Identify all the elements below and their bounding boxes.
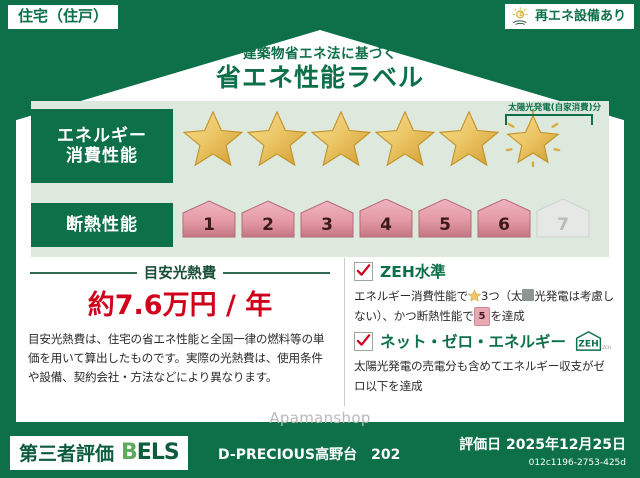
net-zero-energy-body: 太陽光発電の売電分も含めてエネルギー収支がゼロ以下を達成 [354, 357, 616, 396]
evaluation-id: 012c1196-2753-425d [529, 458, 626, 468]
insulation-level-scale: 1 2 3 4 [181, 199, 591, 239]
net-zero-energy-title: ネット・ゼロ・エネルギー [380, 330, 566, 352]
net-zero-energy-title-row: ネット・ゼロ・エネルギー ZEH ZEH [354, 330, 616, 352]
redacted-character [522, 289, 534, 301]
bels-energy-label: 住宅（住戸） 再エネ設備あり 建築物省エネ法に基づく 省エネ性能ラベル エネルギ… [0, 0, 640, 478]
zeh-standard-block: ZEH水準 エネルギー消費性能で3つ（太光発電は考慮しない）、かつ断熱性能で5を… [354, 260, 616, 326]
check-icon [356, 263, 371, 278]
svg-text:ZEH: ZEH [578, 339, 599, 349]
performance-panel: エネルギー 消費性能 [31, 101, 609, 257]
insulation-level-4: 4 [358, 199, 414, 239]
zeh-standard-title-row: ZEH水準 [354, 260, 616, 282]
section-divider [344, 258, 345, 406]
footer-bar: 第三者評価 BELS D-PRECIOUS高野台 202 評価日 2025年12… [0, 422, 640, 478]
insulation-performance-label: 断熱性能 [31, 203, 173, 247]
bels-logo-jp: 第三者評価 [19, 439, 114, 466]
utility-cost-note: 目安光熱費は、住宅の省エネ性能と全国一律の燃料等の単価を用いて算出したものです。… [28, 330, 334, 387]
solar-bracket [505, 114, 593, 125]
rule-right [223, 272, 330, 274]
checkbox-checked [354, 332, 373, 351]
insulation-performance-row: 断熱性能 [31, 203, 173, 247]
star-icon [183, 109, 243, 167]
bels-logo: 第三者評価 BELS [10, 436, 188, 470]
zeh-logo-icon: ZEH ZEH [573, 330, 615, 352]
evaluation-date: 評価日 2025年12月25日 [459, 434, 626, 454]
insulation-level-badge: 5 [474, 307, 491, 326]
zeh-standard-title: ZEH水準 [380, 260, 446, 282]
renewable-equipment-label: 再エネ設備あり [535, 10, 626, 23]
net-zero-energy-block: ネット・ゼロ・エネルギー ZEH ZEH 太陽光発電の売電分も含めてエネルギー収… [354, 330, 616, 396]
insulation-level-5: 5 [417, 199, 473, 239]
insulation-level-2: 2 [240, 199, 296, 239]
solar-self-consumption-note: 太陽光発電(自家消費)分 [508, 101, 601, 113]
rule-left [30, 272, 137, 274]
insulation-level-3: 3 [299, 199, 355, 239]
check-icon [356, 333, 371, 348]
watermark: Apamanshop [0, 409, 640, 427]
bels-logo-en: BELS [121, 440, 179, 465]
checkbox-checked [354, 262, 373, 281]
energy-performance-label: エネルギー 消費性能 [31, 109, 173, 183]
star-icon [375, 109, 435, 167]
house-type-tag: 住宅（住戸） [8, 5, 118, 29]
label-title: 省エネ性能ラベル [0, 58, 640, 94]
sun-solar-icon [511, 7, 531, 25]
svg-text:ZEH: ZEH [602, 345, 611, 351]
zeh-standard-body: エネルギー消費性能で3つ（太光発電は考慮しない）、かつ断熱性能で5を達成 [354, 287, 616, 326]
property-name: D-PRECIOUS高野台 202 [218, 444, 400, 464]
insulation-level-6: 6 [476, 199, 532, 239]
star-icon [439, 109, 499, 167]
insulation-level-7: 7 [535, 199, 591, 239]
star-icon [247, 109, 307, 167]
insulation-level-1: 1 [181, 199, 237, 239]
utility-cost-value: 約7.6万円 / 年 [30, 283, 330, 322]
star-icon [311, 109, 371, 167]
utility-cost-heading: 目安光熱費 [30, 262, 330, 283]
energy-performance-row: エネルギー 消費性能 [31, 109, 173, 183]
renewable-equipment-badge: 再エネ設備あり [505, 4, 634, 29]
star-icon-inline [468, 289, 481, 302]
